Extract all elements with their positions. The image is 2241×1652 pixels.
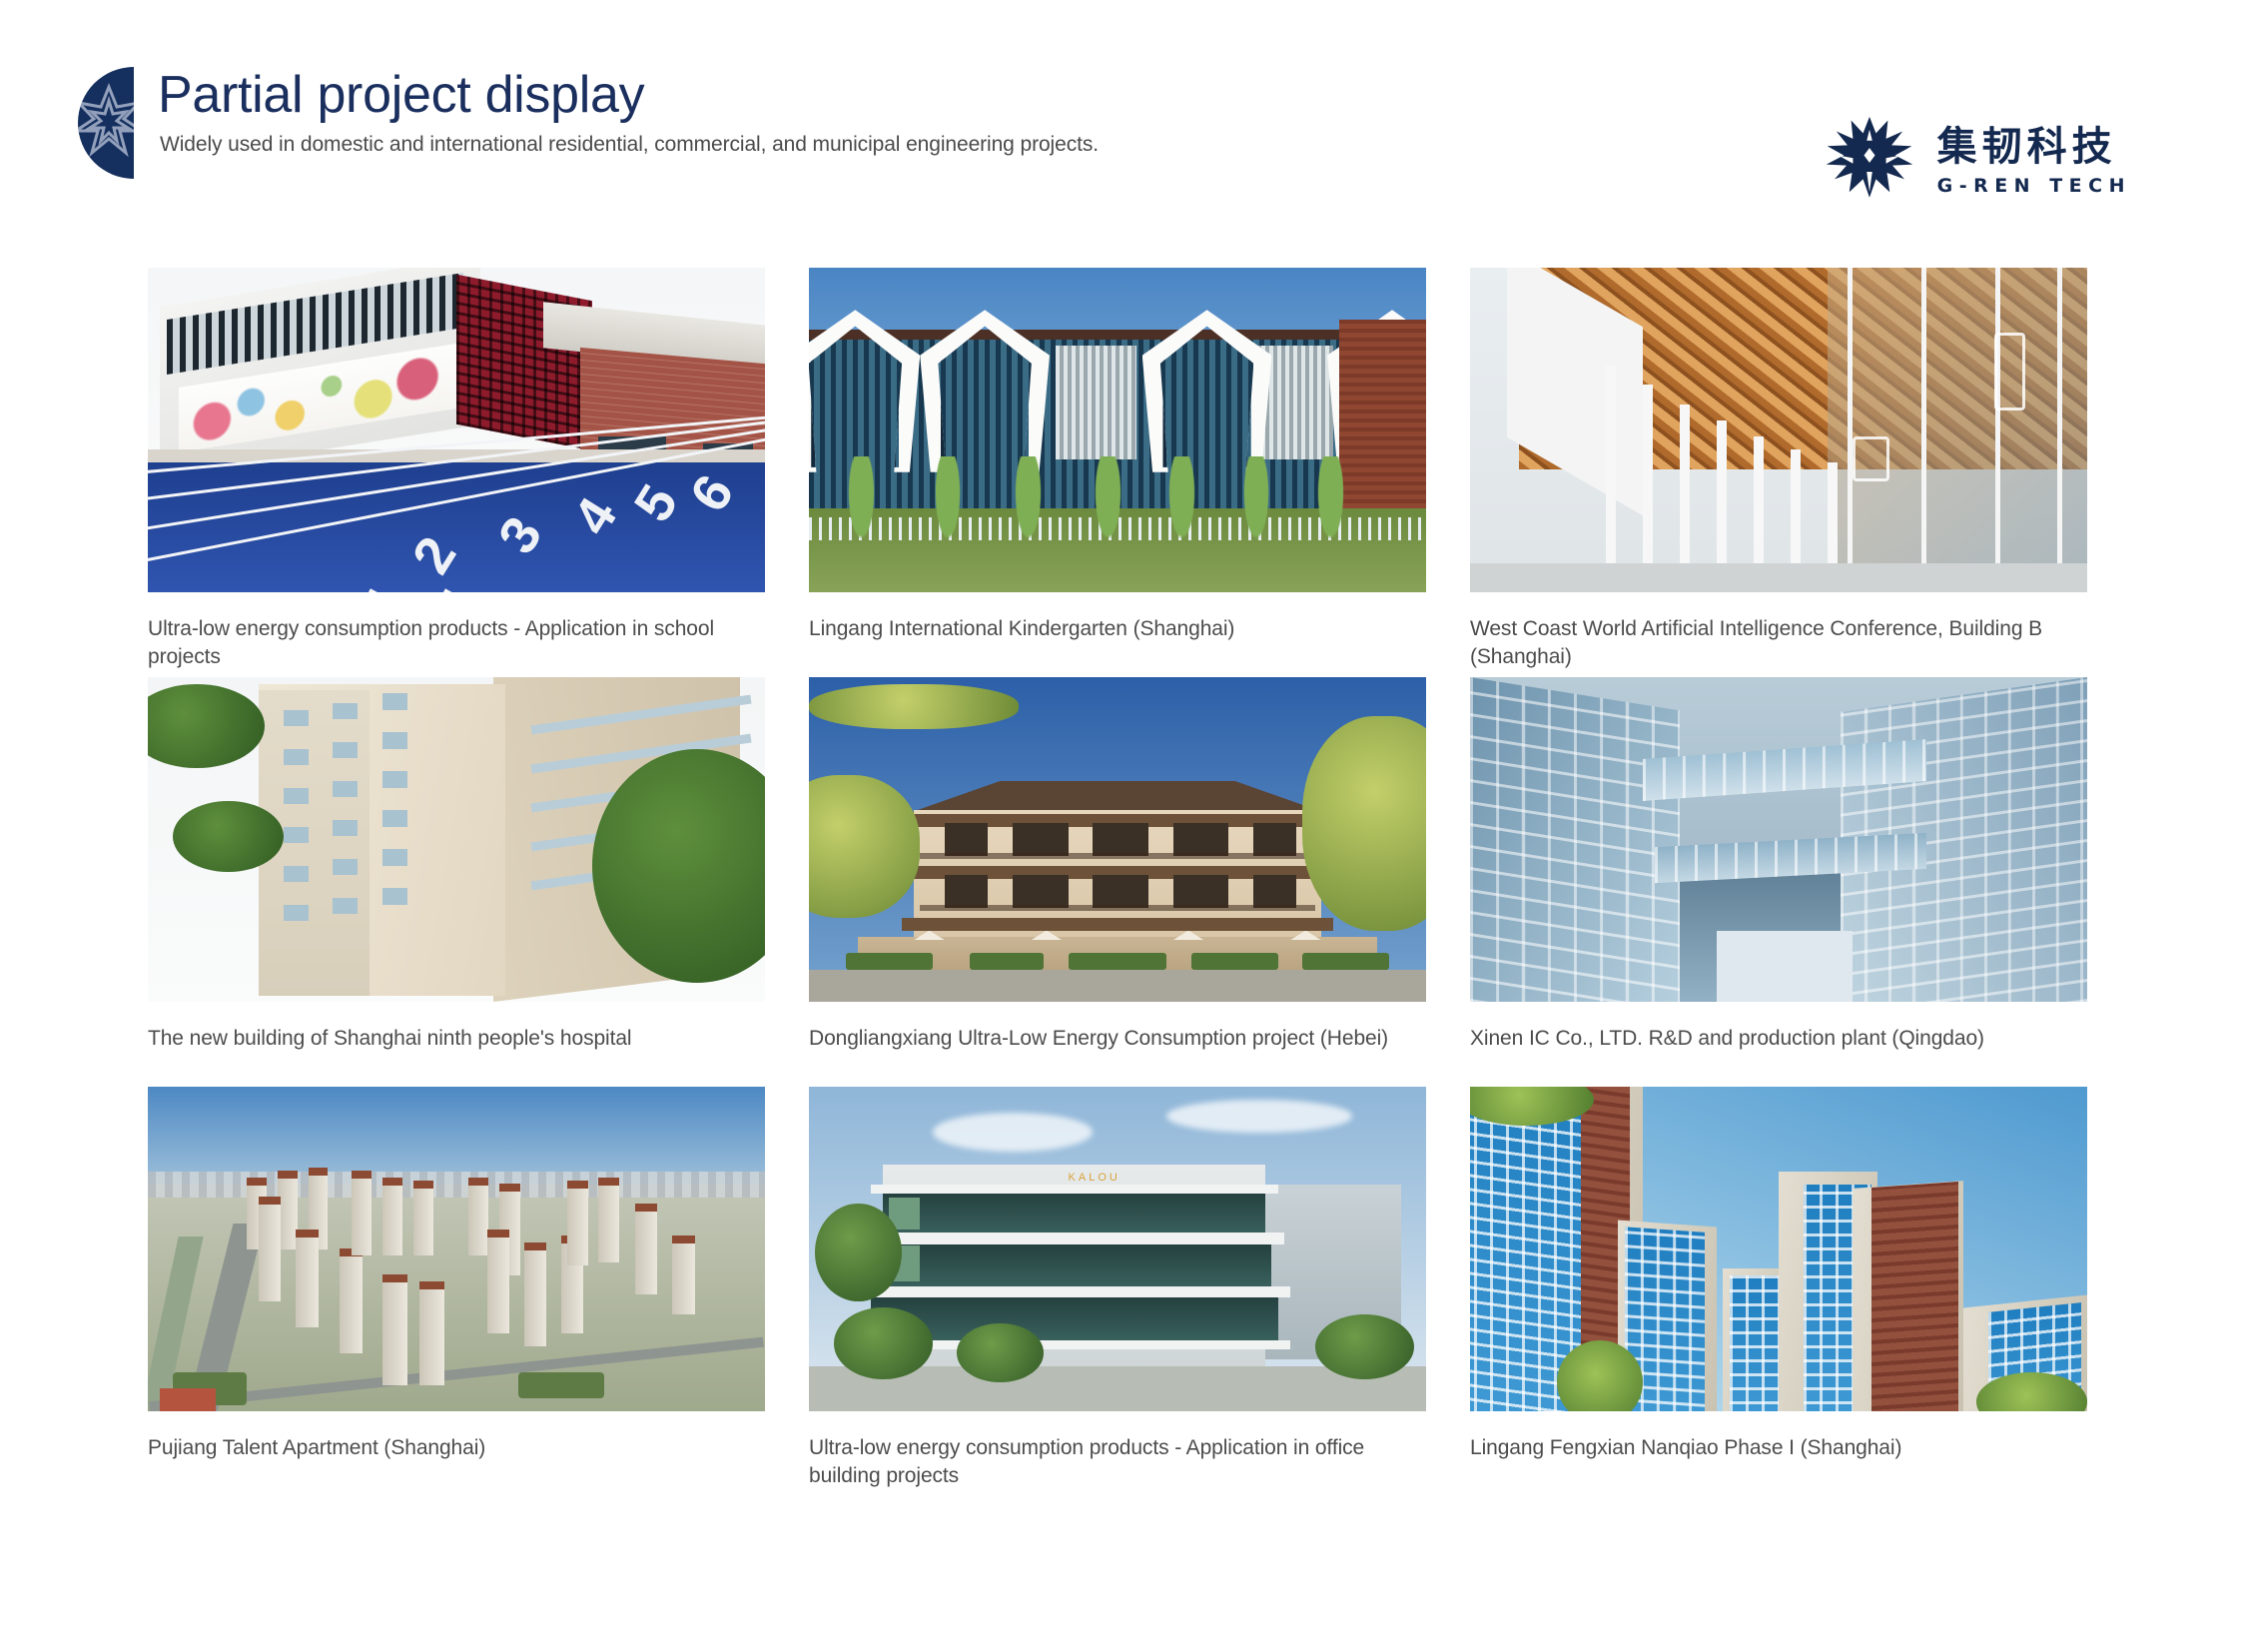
- school-building-running-track-photo[interactable]: 2 3 4 5 6: [148, 268, 765, 592]
- header-badge: [78, 67, 134, 179]
- highrise-apartments-upward-view-photo[interactable]: [1470, 1087, 2087, 1411]
- project-card[interactable]: KALOU Ultra-low energy consumption produ…: [809, 1087, 1426, 1496]
- project-caption: West Coast World Artificial Intelligence…: [1470, 615, 2087, 677]
- project-caption: Pujiang Talent Apartment (Shanghai): [148, 1434, 765, 1496]
- g-ren-tech-star-logo-icon: [1824, 115, 1915, 207]
- project-caption: Xinen IC Co., LTD. R&D and production pl…: [1470, 1025, 2087, 1087]
- brand-logo: 集韧科技 G-REN TECH: [1824, 115, 2131, 207]
- office-building-kalou-photo[interactable]: KALOU: [809, 1087, 1426, 1411]
- project-card[interactable]: Pujiang Talent Apartment (Shanghai): [148, 1087, 765, 1496]
- wooden-lattice-canopy-glass-facade-photo[interactable]: [1470, 268, 2087, 592]
- project-caption: Lingang Fengxian Nanqiao Phase I (Shangh…: [1470, 1434, 2087, 1496]
- project-card[interactable]: The new building of Shanghai ninth peopl…: [148, 677, 765, 1087]
- logo-wordmark: 集韧科技 G-REN TECH: [1937, 127, 2131, 196]
- project-card[interactable]: Lingang International Kindergarten (Shan…: [809, 268, 1426, 677]
- header-text-block: Partial project display Widely used in d…: [158, 68, 1099, 157]
- project-caption: Lingang International Kindergarten (Shan…: [809, 615, 1426, 677]
- hospital-beige-tile-tower-photo[interactable]: [148, 677, 765, 1002]
- aerial-apartment-towers-photo[interactable]: [148, 1087, 765, 1411]
- low-rise-residential-render[interactable]: [809, 677, 1426, 1002]
- kindergarten-zigzag-gable-facade-photo[interactable]: [809, 268, 1426, 592]
- page-header: Partial project display Widely used in d…: [0, 0, 2241, 170]
- project-card[interactable]: Lingang Fengxian Nanqiao Phase I (Shangh…: [1470, 1087, 2087, 1496]
- logo-company-name-en: G-REN TECH: [1937, 177, 2131, 196]
- project-caption: Dongliangxiang Ultra-Low Energy Consumpt…: [809, 1025, 1426, 1087]
- project-card[interactable]: West Coast World Artificial Intelligence…: [1470, 268, 2087, 677]
- project-card[interactable]: 2 3 4 5 6 Ultra-low energy consumption p…: [148, 268, 765, 677]
- project-gallery-grid: 2 3 4 5 6 Ultra-low energy consumption p…: [148, 268, 2105, 1496]
- page-title: Partial project display: [158, 68, 1099, 123]
- project-card[interactable]: Xinen IC Co., LTD. R&D and production pl…: [1470, 677, 2087, 1087]
- logo-company-name-cn: 集韧科技: [1937, 127, 2131, 167]
- project-caption: Ultra-low energy consumption products - …: [148, 615, 765, 677]
- page-subtitle: Widely used in domestic and internationa…: [160, 133, 1099, 157]
- project-caption: The new building of Shanghai ninth peopl…: [148, 1025, 765, 1087]
- project-caption: Ultra-low energy consumption products - …: [809, 1434, 1426, 1496]
- project-card[interactable]: Dongliangxiang Ultra-Low Energy Consumpt…: [809, 677, 1426, 1087]
- glass-atrium-sky-bridges-photo[interactable]: [1470, 677, 2087, 1002]
